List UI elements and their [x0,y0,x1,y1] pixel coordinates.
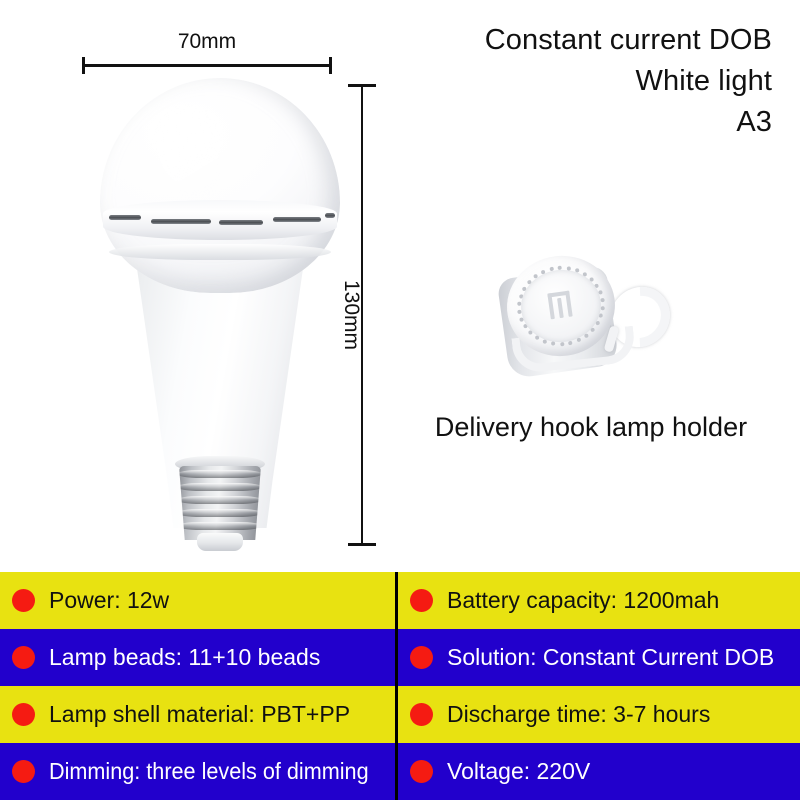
vent-slot [219,220,263,225]
table-row: Dimming: three levels of dimming Voltage… [0,743,800,800]
bullet-icon [12,703,35,726]
vent-slot [273,217,321,222]
header-line-product-type: Constant current DOB [352,20,772,61]
bullet-icon [12,760,35,783]
vent-slot [325,213,335,218]
spec-text-discharge-time: Discharge time: 3-7 hours [447,702,710,727]
bulb-base-thread [177,509,262,517]
table-row: Lamp beads: 11+10 beads Solution: Consta… [0,629,800,686]
spec-text-lamp-shell-material: Lamp shell material: PBT+PP [49,702,350,727]
bullet-icon [410,589,433,612]
spec-text-solution: Solution: Constant Current DOB [447,645,774,670]
hook-lamp-holder-image [495,250,675,380]
spec-text-dimming: Dimming: three levels of dimming [49,759,369,784]
dimension-height-tick-top [348,84,376,87]
dimension-width-label: 70mm [82,30,332,54]
bulb-base-thread [177,522,262,530]
bullet-icon [410,703,433,726]
spec-text-battery-capacity: Battery capacity: 1200mah [447,588,719,613]
bulb-base-thread [177,470,262,478]
header-line-light-color: White light [352,61,772,102]
spec-cell-voltage: Voltage: 220V [395,743,800,800]
vent-slot [109,215,141,220]
spec-cell-dimming: Dimming: three levels of dimming [0,743,395,800]
bulb-globe [100,78,340,293]
bulb-base-thread [177,496,262,504]
holder-dot [568,341,573,346]
header-line-model: A3 [352,102,772,143]
bullet-icon [12,589,35,612]
bullet-icon [410,646,433,669]
spec-text-voltage: Voltage: 220V [447,759,590,784]
dimension-width-tick-right [329,57,332,74]
spec-cell-battery-capacity: Battery capacity: 1200mah [395,572,800,629]
spec-table: Power: 12w Battery capacity: 1200mah Lam… [0,572,800,800]
light-bulb-image [95,78,345,548]
spec-cell-power: Power: 12w [0,572,395,629]
spec-text-power: Power: 12w [49,588,169,613]
spec-cell-solution: Solution: Constant Current DOB [395,629,800,686]
spec-text-lamp-beads: Lamp beads: 11+10 beads [49,645,320,670]
table-row: Lamp shell material: PBT+PP Discharge ti… [0,686,800,743]
holder-dot [560,342,565,347]
bullet-icon [410,760,433,783]
bullet-icon [12,646,35,669]
bulb-base-thread [177,483,262,491]
spec-cell-lamp-shell-material: Lamp shell material: PBT+PP [0,686,395,743]
holder-dot [601,306,606,311]
spec-cell-lamp-beads: Lamp beads: 11+10 beads [0,629,395,686]
vent-slot [151,219,211,224]
table-row: Power: 12w Battery capacity: 1200mah [0,572,800,629]
bulb-screw-base [179,466,261,540]
bulb-seam [109,244,331,260]
bulb-vent-band [103,200,337,240]
spec-cell-discharge-time: Discharge time: 3-7 hours [395,686,800,743]
accessory-caption: Delivery hook lamp holder [396,412,786,443]
bulb-base-tip [197,533,243,551]
product-infographic: Constant current DOB White light A3 70mm… [0,0,800,800]
holder-glyph [547,291,572,320]
dimension-width-line [82,64,332,67]
dimension-width-tick-left [82,57,85,74]
holder-dot [600,298,605,303]
dimension-height-tick-bottom [348,543,376,546]
header-text-block: Constant current DOB White light A3 [352,20,772,143]
